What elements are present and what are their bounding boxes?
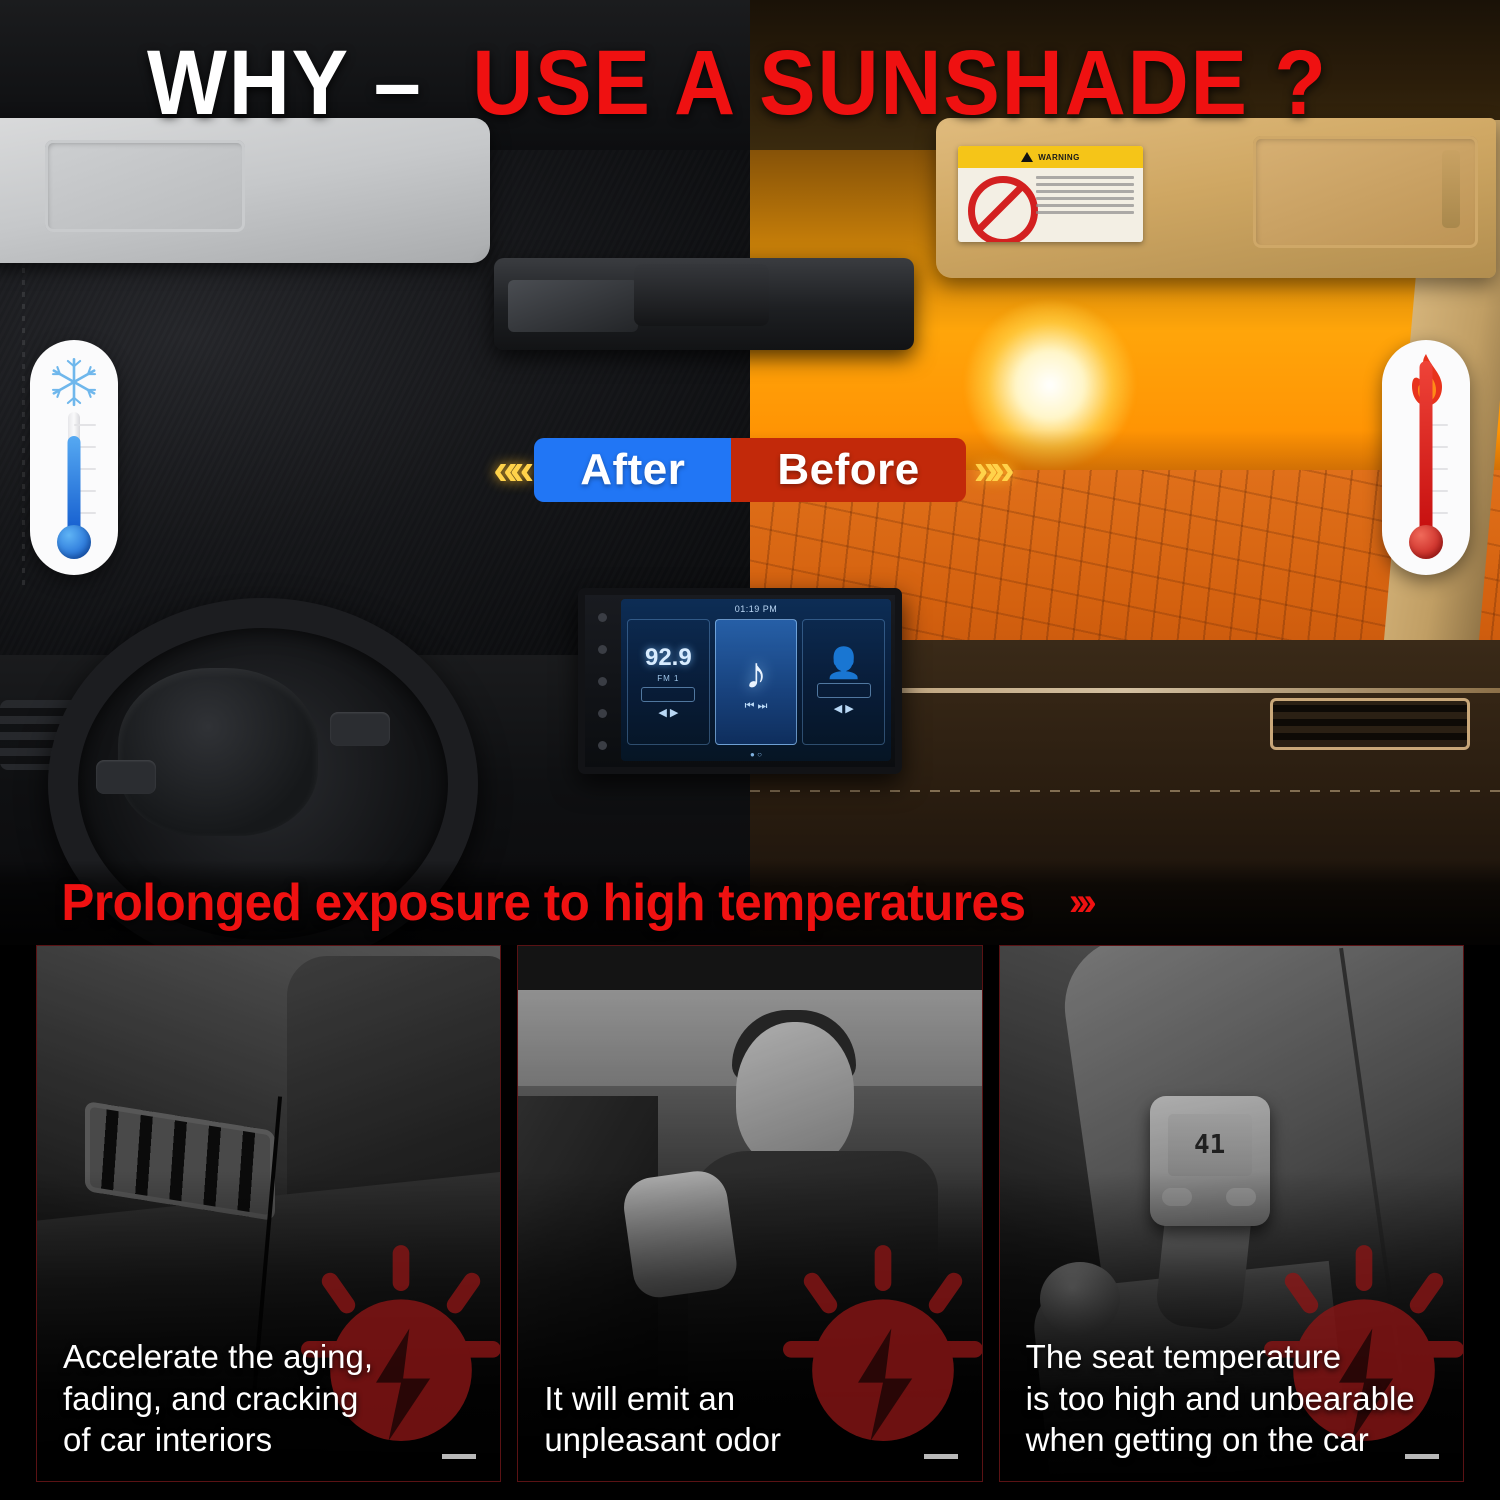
thermometer-bulb-hot [1409,525,1443,559]
radio-frequency: 92.9 [645,646,692,670]
panel-interior-aging: Accelerate the aging, fading, and cracki… [36,945,501,1482]
media-track-arrows[interactable]: ⏮ ⏭ [745,700,768,713]
mirror-glass [508,280,638,332]
consequence-panels: Accelerate the aging, fading, and cracki… [0,945,1500,1500]
warning-label-header: WARNING [958,146,1143,168]
visor-clip-left [62,154,82,216]
panel-seat-temperature: 41 The seat temperature is too high and … [999,945,1464,1482]
infotainment-cards: 92.9 FM 1 ◀ ▶ ♪ ⏮ ⏭ 👤 ◀ ▶ [627,619,885,745]
mirror-housing [634,264,769,326]
thermometer-bulb-cold [57,525,91,559]
sun-visor-left [0,118,490,263]
screen-button-power-icon[interactable] [598,613,607,622]
radio-band: FM 1 [657,674,679,683]
screen-side-buttons[interactable] [589,601,615,761]
infographic-page: WARNING [0,0,1500,1500]
panel-caption: The seat temperature is too high and unb… [1026,1336,1445,1461]
phone-nav-arrows[interactable]: ◀ ▶ [834,702,854,715]
person-icon: 👤 [825,649,862,679]
title-white-part: WHY – [147,37,423,129]
warning-triangle-icon [1021,152,1033,162]
panel-underline [1405,1454,1439,1459]
radio-preset-chip[interactable] [641,687,695,702]
title-red-part: USE A SUNSHADE ? [472,37,1328,129]
rear-view-mirror [494,258,914,350]
air-vent-right [1270,698,1470,750]
left-chevron-icon: «« [485,448,534,492]
heat-banner: Prolonged exposure to high temperatures … [0,860,1500,945]
warning-label-text-lines [1036,176,1134,218]
panel-caption: It will emit an unpleasant odor [544,1378,963,1461]
snowflake-icon [46,354,102,410]
phone-card[interactable]: 👤 ◀ ▶ [802,619,885,745]
warning-label-title: WARNING [1038,153,1079,162]
page-indicator-dots[interactable]: ● ○ [621,750,891,759]
phone-contact-chip[interactable] [817,683,871,698]
visor-clip-right [1442,150,1460,228]
media-card[interactable]: ♪ ⏮ ⏭ [715,619,798,745]
no-child-seat-icon [968,176,1038,242]
banner-chevrons-icon: ››› [1069,880,1091,925]
screen-button-menu-icon[interactable] [598,677,607,686]
wheel-button-left [96,760,156,794]
music-note-icon: ♪ [745,652,767,696]
radio-card[interactable]: 92.9 FM 1 ◀ ▶ [627,619,710,745]
radio-seek-arrows[interactable]: ◀ ▶ [658,706,678,719]
screen-button-home-icon[interactable] [598,645,607,654]
panel-underline [442,1454,476,1459]
screen-button-apps-icon[interactable] [598,709,607,718]
thermometer-reading: 41 [1168,1114,1252,1176]
visor-warning-label: WARNING [958,146,1143,242]
dashboard-stitching [750,790,1500,792]
wheel-button-right [330,712,390,746]
steering-wheel-hub [118,668,318,836]
screen-button-back-icon[interactable] [598,741,607,750]
panel-caption: Accelerate the aging, fading, and cracki… [63,1336,482,1461]
heat-banner-text: Prolonged exposure to high temperatures [61,873,1025,933]
infotainment-display: 01:19 PM 92.9 FM 1 ◀ ▶ ♪ ⏮ ⏭ 👤 [621,599,891,761]
panel-unpleasant-odor: It will emit an unpleasant odor [517,945,982,1482]
before-after-badges: «« After Before »» [0,430,1500,510]
before-badge[interactable]: Before [731,438,965,502]
page-title: WHY – USE A SUNSHADE ? [0,30,1500,135]
before-after-hero: WARNING [0,0,1500,945]
infotainment-clock: 01:19 PM [621,601,891,617]
sun-visor-right: WARNING [936,118,1496,278]
after-badge[interactable]: After [534,438,731,502]
right-chevron-icon: »» [966,448,1015,492]
infotainment-screen[interactable]: 01:19 PM 92.9 FM 1 ◀ ▶ ♪ ⏮ ⏭ 👤 [578,588,902,774]
panel-underline [924,1454,958,1459]
